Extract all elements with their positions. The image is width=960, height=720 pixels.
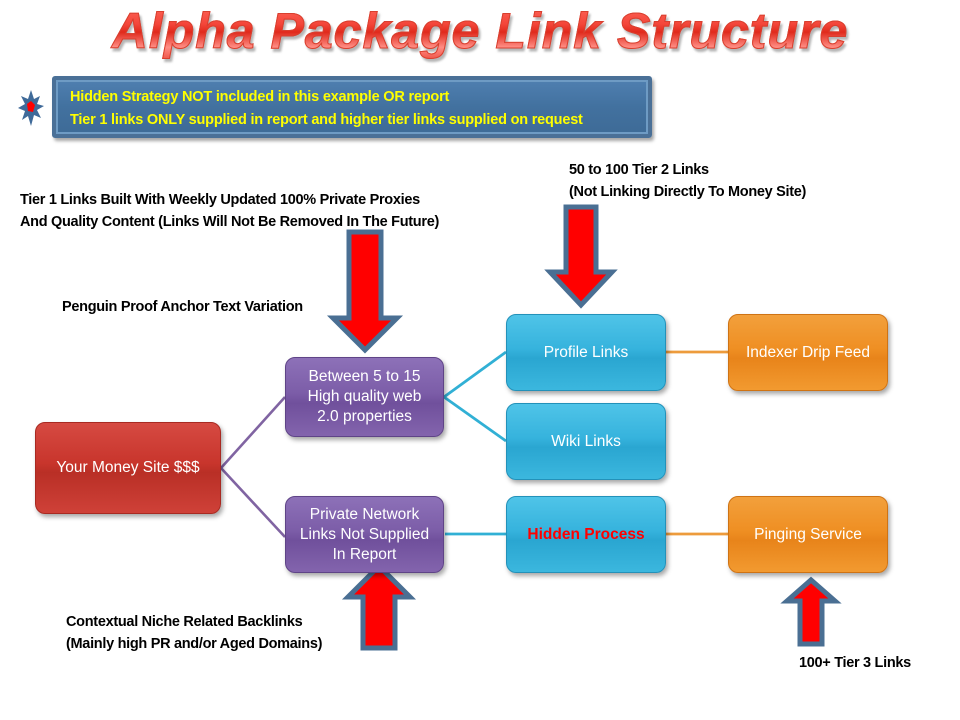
caption-tier3: 100+ Tier 3 Links [799, 653, 911, 673]
node-pinging-service-label: Pinging Service [735, 525, 881, 545]
arrow-up-contextual [348, 566, 410, 648]
caption-tier1-line2: And Quality Content (Links Will Not Be R… [20, 212, 439, 232]
arrow-down-tier2 [550, 207, 612, 305]
node-profile-links-label: Profile Links [513, 343, 659, 363]
node-private-network-line2: Links Not Supplied [300, 526, 429, 543]
node-indexer-drip-feed-label: Indexer Drip Feed [735, 343, 881, 363]
node-money-site[interactable]: Your Money Site $$$ [35, 422, 221, 514]
arrow-up-tier3 [787, 580, 835, 644]
page-title: Alpha Package Link Structure [0, 2, 960, 66]
node-wiki-links-label: Wiki Links [513, 432, 659, 452]
node-money-site-label: Your Money Site $$$ [42, 458, 214, 478]
node-private-network-line3: In Report [333, 546, 397, 563]
edge-money-to-private-network [221, 468, 285, 537]
caption-tier2-line1: 50 to 100 Tier 2 Links [569, 160, 709, 180]
node-private-network-line1: Private Network [310, 506, 419, 523]
node-private-network[interactable]: Private Network Links Not Supplied In Re… [285, 496, 444, 573]
node-indexer-drip-feed[interactable]: Indexer Drip Feed [728, 314, 888, 391]
node-pinging-service[interactable]: Pinging Service [728, 496, 888, 573]
banner-line-1: Hidden Strategy NOT included in this exa… [70, 86, 638, 109]
hidden-strategy-banner: Hidden Strategy NOT included in this exa… [52, 76, 652, 138]
edge-web20-to-profile [444, 352, 506, 397]
node-web20-line3: 2.0 properties [317, 408, 412, 425]
caption-contextual-line2: (Mainly high PR and/or Aged Domains) [66, 634, 322, 654]
node-profile-links[interactable]: Profile Links [506, 314, 666, 391]
caption-tier1-line1: Tier 1 Links Built With Weekly Updated 1… [20, 190, 420, 210]
caption-contextual-line1: Contextual Niche Related Backlinks [66, 612, 302, 632]
node-wiki-links[interactable]: Wiki Links [506, 403, 666, 480]
caption-penguin: Penguin Proof Anchor Text Variation [62, 297, 303, 317]
node-hidden-process[interactable]: Hidden Process [506, 496, 666, 573]
starburst-icon [18, 90, 44, 126]
node-web20-line2: High quality web [308, 388, 422, 405]
node-web20-properties[interactable]: Between 5 to 15 High quality web 2.0 pro… [285, 357, 444, 437]
page-title-text: Alpha Package Link Structure [112, 2, 849, 60]
node-web20-label: Between 5 to 15 High quality web 2.0 pro… [292, 367, 437, 427]
node-web20-line1: Between 5 to 15 [308, 368, 420, 385]
edge-web20-to-wiki [444, 397, 506, 441]
edge-money-to-web20 [221, 397, 285, 468]
node-private-network-label: Private Network Links Not Supplied In Re… [292, 505, 437, 565]
banner-line-2: Tier 1 links ONLY supplied in report and… [70, 109, 638, 132]
caption-tier2-line2: (Not Linking Directly To Money Site) [569, 182, 806, 202]
node-hidden-process-label: Hidden Process [513, 525, 659, 545]
diagram-canvas: Alpha Package Link Structure Hidden Stra… [0, 0, 960, 720]
arrow-down-tier1 [333, 232, 397, 350]
